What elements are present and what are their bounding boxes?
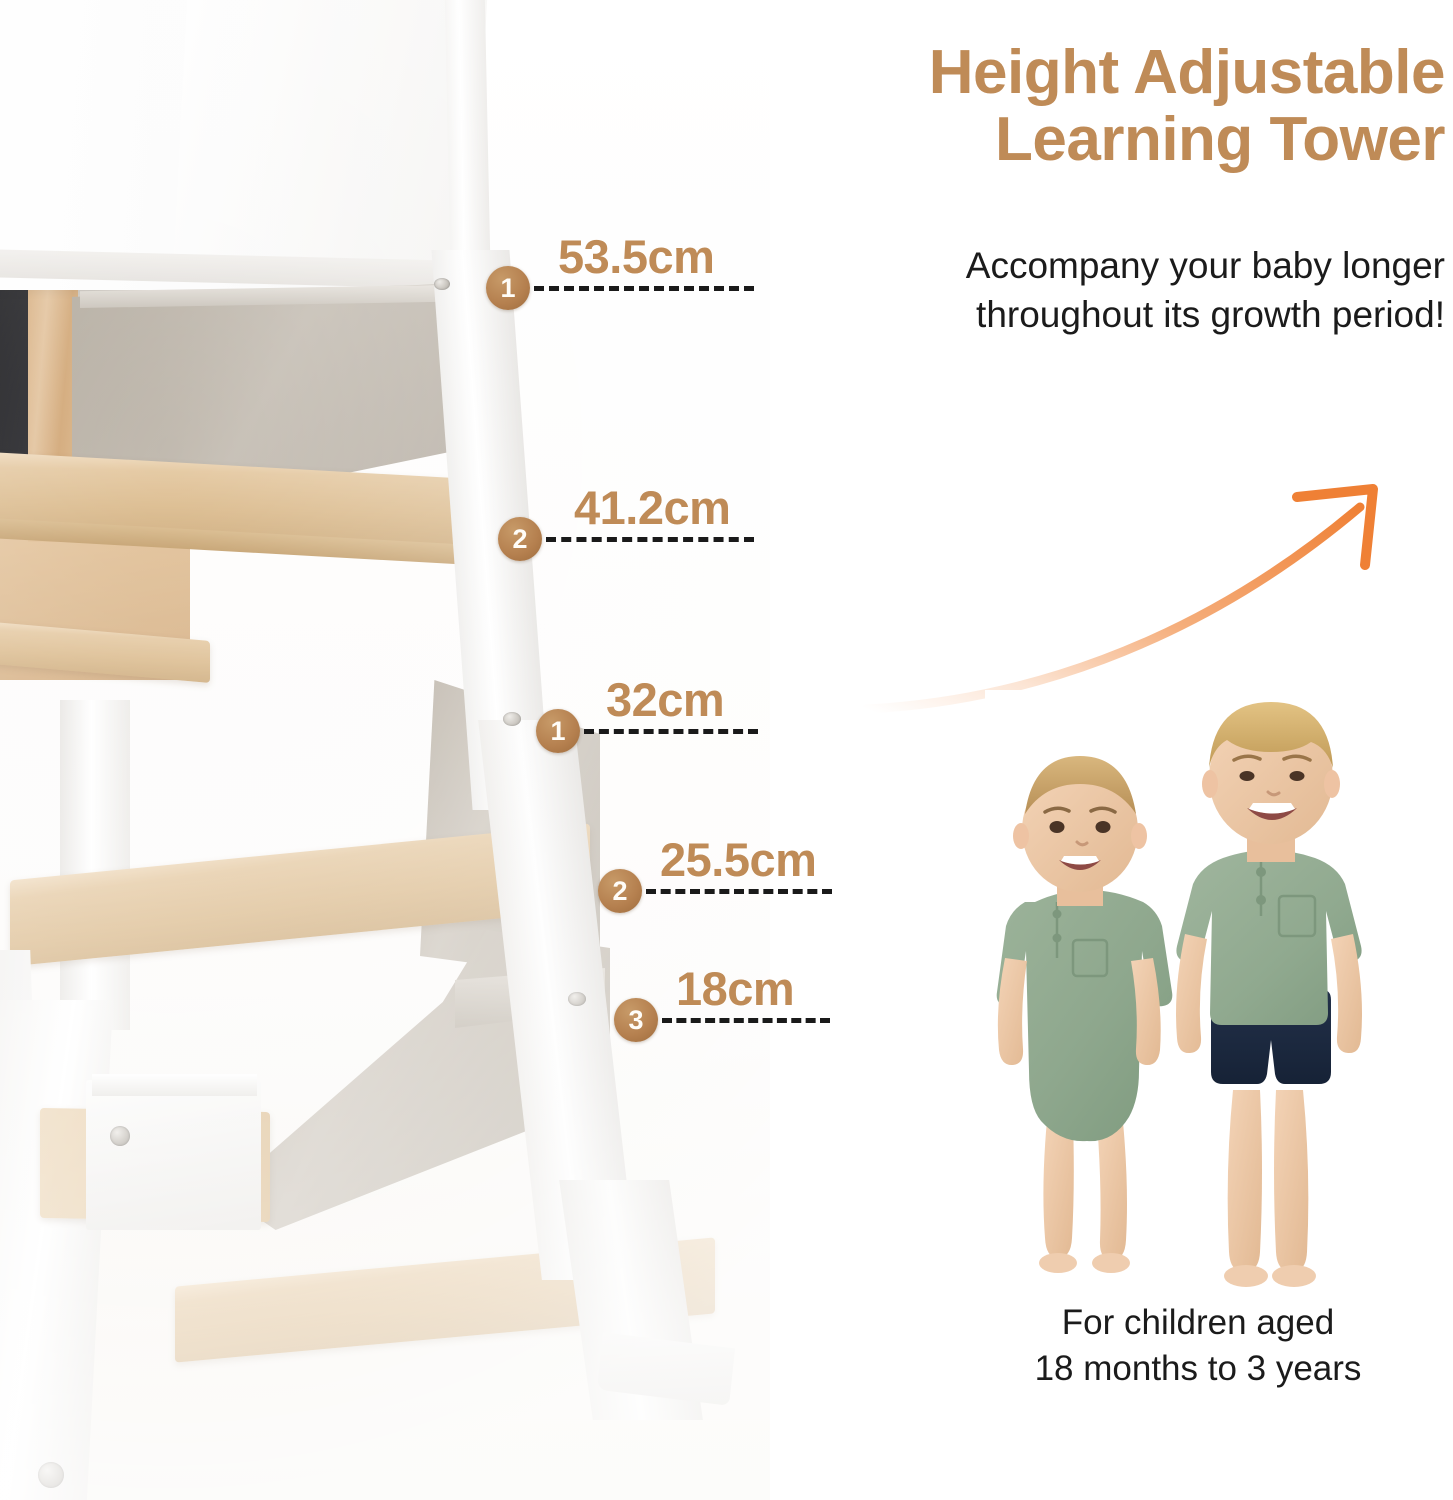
callout-badge: 2 <box>598 869 642 913</box>
measurement-callout-41-2cm: 2 41.2cm <box>498 517 754 561</box>
callout-badge: 3 <box>614 998 658 1042</box>
callout-dashed-line <box>584 729 758 734</box>
white-support-block-top <box>92 1074 257 1096</box>
measurement-callout-25-5cm: 2 25.5cm <box>598 869 832 913</box>
white-support-block <box>86 1080 261 1230</box>
wood-platform-1 <box>0 451 510 551</box>
page-subtitle-line-1: Accompany your baby longer <box>805 242 1445 291</box>
age-caption: For children aged 18 months to 3 years <box>958 1300 1438 1391</box>
screw-icon <box>110 1126 130 1146</box>
callout-label: 53.5cm <box>558 229 714 284</box>
screw-icon <box>434 278 450 290</box>
callout-dashed-line <box>546 537 754 542</box>
callout-label: 25.5cm <box>660 832 816 887</box>
page-title-line-1: Height Adjustable <box>755 40 1445 107</box>
measurement-callout-18cm: 3 18cm <box>614 998 830 1042</box>
age-caption-line-1: For children aged <box>958 1300 1438 1346</box>
callout-badge: 1 <box>486 266 530 310</box>
callout-label: 18cm <box>676 961 794 1016</box>
callout-label: 32cm <box>606 672 724 727</box>
callout-badge: 1 <box>536 709 580 753</box>
callout-dashed-line <box>662 1018 830 1023</box>
callout-badge: 2 <box>498 517 542 561</box>
measurement-callout-53-5cm: 1 53.5cm <box>486 266 754 310</box>
screw-icon <box>503 712 521 726</box>
two-children-photo <box>985 690 1415 1300</box>
screw-icon <box>38 1462 64 1488</box>
callout-dashed-line <box>646 889 832 894</box>
page-title: Height Adjustable Learning Tower <box>755 40 1445 174</box>
age-caption-line-2: 18 months to 3 years <box>958 1346 1438 1392</box>
callout-dashed-line <box>534 286 754 291</box>
tower-top-platform-side <box>172 0 487 280</box>
page-subtitle-line-2: throughout its growth period! <box>805 291 1445 340</box>
infographic-canvas: 1 53.5cm 2 41.2cm 1 32cm 2 25.5cm 3 18cm… <box>0 0 1453 1500</box>
page-title-line-2: Learning Tower <box>755 107 1445 174</box>
callout-label: 41.2cm <box>574 480 730 535</box>
screw-icon <box>568 992 586 1006</box>
page-subtitle: Accompany your baby longer throughout it… <box>805 242 1445 340</box>
tower-left-leg <box>60 700 130 1030</box>
measurement-callout-32cm: 1 32cm <box>536 709 758 753</box>
